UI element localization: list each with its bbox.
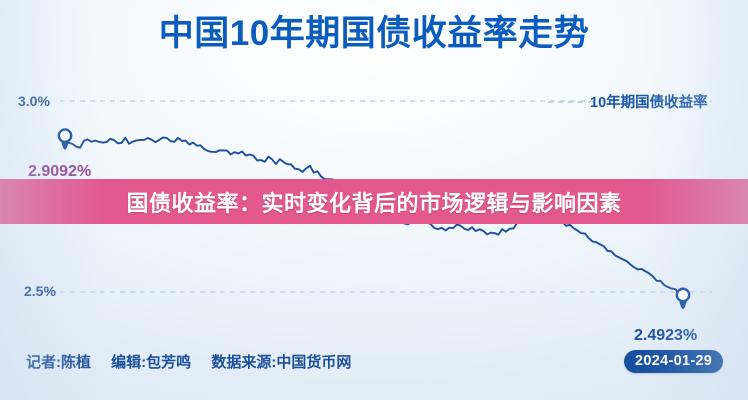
- start-point-marker: [59, 129, 71, 149]
- footer-reporter: 记者:陈植: [26, 354, 91, 371]
- end-point-marker: [677, 289, 689, 309]
- y-axis-tick-top: 3.0%: [18, 93, 50, 109]
- footer-editor: 编辑:包芳鸣: [111, 354, 191, 371]
- end-date-badge: 2024-01-29: [624, 350, 723, 373]
- overlay-headline-banner: 国债收益率：实时变化背后的市场逻辑与影响因素: [0, 179, 748, 224]
- end-value-label: 2.4923%: [634, 327, 697, 345]
- legend-label: 10年期国债收益率: [590, 91, 708, 112]
- y-axis-tick-bottom: 2.5%: [24, 283, 56, 299]
- credits-footer: 记者:陈植 编辑:包芳鸣 数据来源:中国货币网: [26, 351, 351, 372]
- chart-canvas: 中国10年期国债收益率走势 3.0% 2.5% 10年期国债收益率 2.9092…: [0, 0, 748, 400]
- footer-source: 数据来源:中国货币网: [211, 354, 351, 371]
- overlay-headline-text: 国债收益率：实时变化背后的市场逻辑与影响因素: [126, 186, 621, 218]
- legend-dash-icon: [548, 97, 590, 107]
- chart-legend: 10年期国债收益率: [548, 91, 708, 112]
